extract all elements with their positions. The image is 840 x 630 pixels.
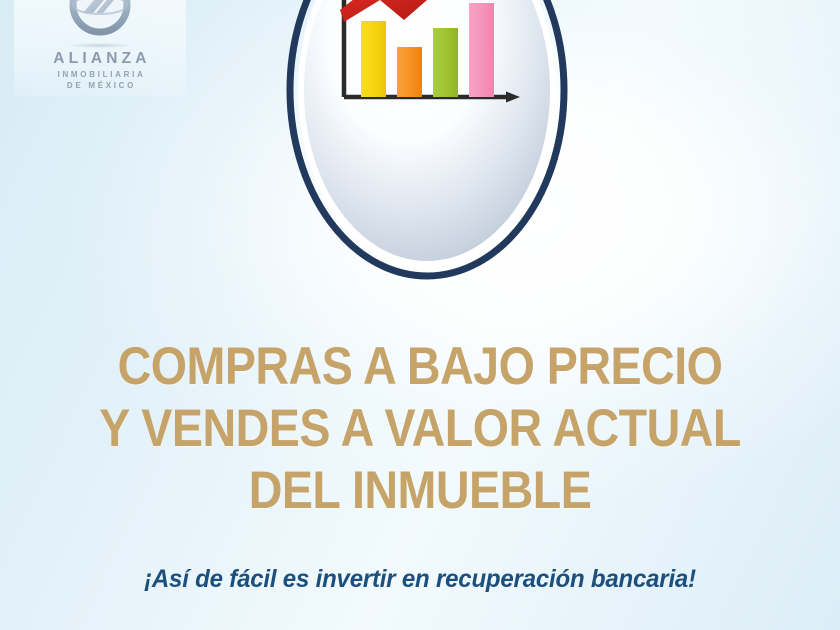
bar-3 xyxy=(433,28,458,97)
bar-2 xyxy=(397,47,422,97)
brand-logo-panel: ALIANZA INMOBILIARIA DE MÉXICO xyxy=(14,0,186,96)
headline-line-2: Y VENDES A VALOR ACTUAL xyxy=(50,398,789,460)
bar-4 xyxy=(469,3,494,97)
bar-1 xyxy=(361,21,386,97)
headline-block: COMPRAS A BAJO PRECIO Y VENDES A VALOR A… xyxy=(0,336,840,522)
subtitle-text: ¡Así de fácil es invertir en recuperació… xyxy=(17,565,823,594)
logo-shadow xyxy=(67,43,133,48)
brand-subtitle-line1: INMOBILIARIA xyxy=(55,70,146,79)
brand-subtitle-line2: DE MÉXICO xyxy=(64,81,136,90)
promo-poster: ALIANZA INMOBILIARIA DE MÉXICO xyxy=(0,0,840,630)
headline-line-1: COMPRAS A BAJO PRECIO xyxy=(50,336,789,398)
brand-name: ALIANZA xyxy=(49,51,150,67)
circular-chart-emblem: AR xyxy=(282,0,572,282)
headline-line-3: DEL INMUEBLE xyxy=(50,460,789,522)
globe-network-emblem-icon xyxy=(63,0,137,41)
